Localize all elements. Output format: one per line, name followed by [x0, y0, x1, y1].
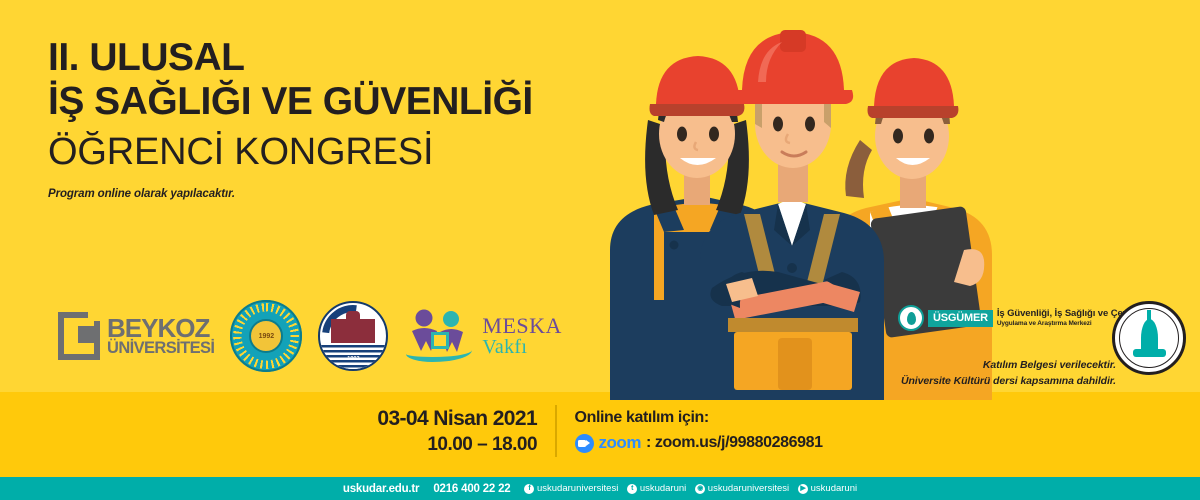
logo-saglik-bilimleri-universitesi: 1903 — [318, 301, 388, 371]
social-facebook[interactable]: f uskudaruniversitesi — [524, 483, 618, 494]
event-time: 10.00 – 18.00 — [377, 434, 537, 456]
facebook-handle: uskudaruniversitesi — [537, 483, 618, 494]
footer-website[interactable]: uskudar.edu.tr — [343, 483, 419, 495]
usgumer-drop-icon — [907, 312, 916, 325]
zoom-wordmark: zoom — [599, 433, 641, 453]
zoom-icon — [575, 434, 594, 453]
social-youtube[interactable]: ▶ uskudaruni — [798, 483, 857, 494]
twitter-icon: t — [627, 484, 637, 494]
logo-beykoz-universitesi: BEYKOZ ÜNİVERSİTESİ — [58, 312, 214, 360]
instagram-icon: ◉ — [695, 484, 705, 494]
event-banner: II. ULUSAL İŞ SAĞLIĞI VE GÜVENLİĞİ ÖĞREN… — [0, 0, 1200, 500]
footer-bar: uskudar.edu.tr 0216 400 22 22 f uskudaru… — [0, 477, 1200, 500]
instagram-handle: uskudaruniversitesi — [708, 483, 789, 494]
social-instagram[interactable]: ◉ uskudaruniversitesi — [695, 483, 789, 494]
date-column: 03-04 Nisan 2021 10.00 – 18.00 — [377, 407, 555, 456]
nigde-ring — [230, 300, 302, 372]
twitter-handle: uskudaruni — [640, 483, 686, 494]
date-and-zoom-strip: 03-04 Nisan 2021 10.00 – 18.00 Online ka… — [0, 400, 1200, 462]
headline-note: Program online olarak yapılacaktır. — [48, 188, 628, 200]
beykoz-name: BEYKOZ — [107, 316, 214, 341]
facebook-icon: f — [524, 484, 534, 494]
online-participation-label: Online katılım için: — [575, 409, 823, 427]
footer-socials: f uskudaruniversitesi t uskudaruni ◉ usk… — [524, 483, 857, 494]
headline-block: II. ULUSAL İŞ SAĞLIĞI VE GÜVENLİĞİ ÖĞREN… — [48, 38, 628, 200]
headline-line-1: II. ULUSAL — [48, 38, 628, 78]
logo-meska-vakfi: MESKA Vakfı — [404, 307, 562, 365]
headline-line-2: İŞ SAĞLIĞI VE GÜVENLİĞİ — [48, 82, 628, 122]
event-date: 03-04 Nisan 2021 — [377, 407, 537, 431]
uskudar-tower-icon — [1141, 319, 1158, 357]
right-info-block: ÜSGÜMER İş Güvenliği, İş Sağlığı ve Çevr… — [898, 305, 1188, 390]
sbu-year: 1903 — [320, 356, 386, 362]
meska-subtitle: Vakfı — [482, 337, 562, 357]
sbu-building-icon — [331, 319, 375, 343]
logo-nigde-omer-halisdemir-universitesi: 1992 — [230, 300, 302, 372]
youtube-handle: uskudaruni — [811, 483, 857, 494]
beykoz-subtitle: ÜNİVERSİTESİ — [107, 341, 214, 357]
social-twitter[interactable]: t uskudaruni — [627, 483, 686, 494]
usgumer-seal-icon — [898, 305, 924, 331]
zoom-column: Online katılım için: zoom : zoom.us/j/99… — [557, 409, 823, 453]
meska-mark-icon — [404, 307, 474, 365]
note-course: Üniversite Kültürü dersi kapsamına dahil… — [898, 373, 1116, 389]
logo-uskudar-universitesi — [1112, 301, 1186, 375]
zoom-meeting-url[interactable]: : zoom.us/j/99880286981 — [646, 434, 823, 452]
youtube-icon: ▶ — [798, 484, 808, 494]
footer-phone[interactable]: 0216 400 22 22 — [433, 483, 510, 495]
headline-line-3: ÖĞRENCİ KONGRESİ — [48, 133, 628, 172]
beykoz-mark-icon — [58, 312, 100, 360]
note-certificate: Katılım Belgesi verilecektir. — [898, 357, 1116, 373]
usgumer-tag: ÜSGÜMER — [928, 310, 993, 327]
partner-logos-left: BEYKOZ ÜNİVERSİTESİ 1992 1903 — [58, 300, 562, 372]
meska-name: MESKA — [482, 315, 562, 337]
